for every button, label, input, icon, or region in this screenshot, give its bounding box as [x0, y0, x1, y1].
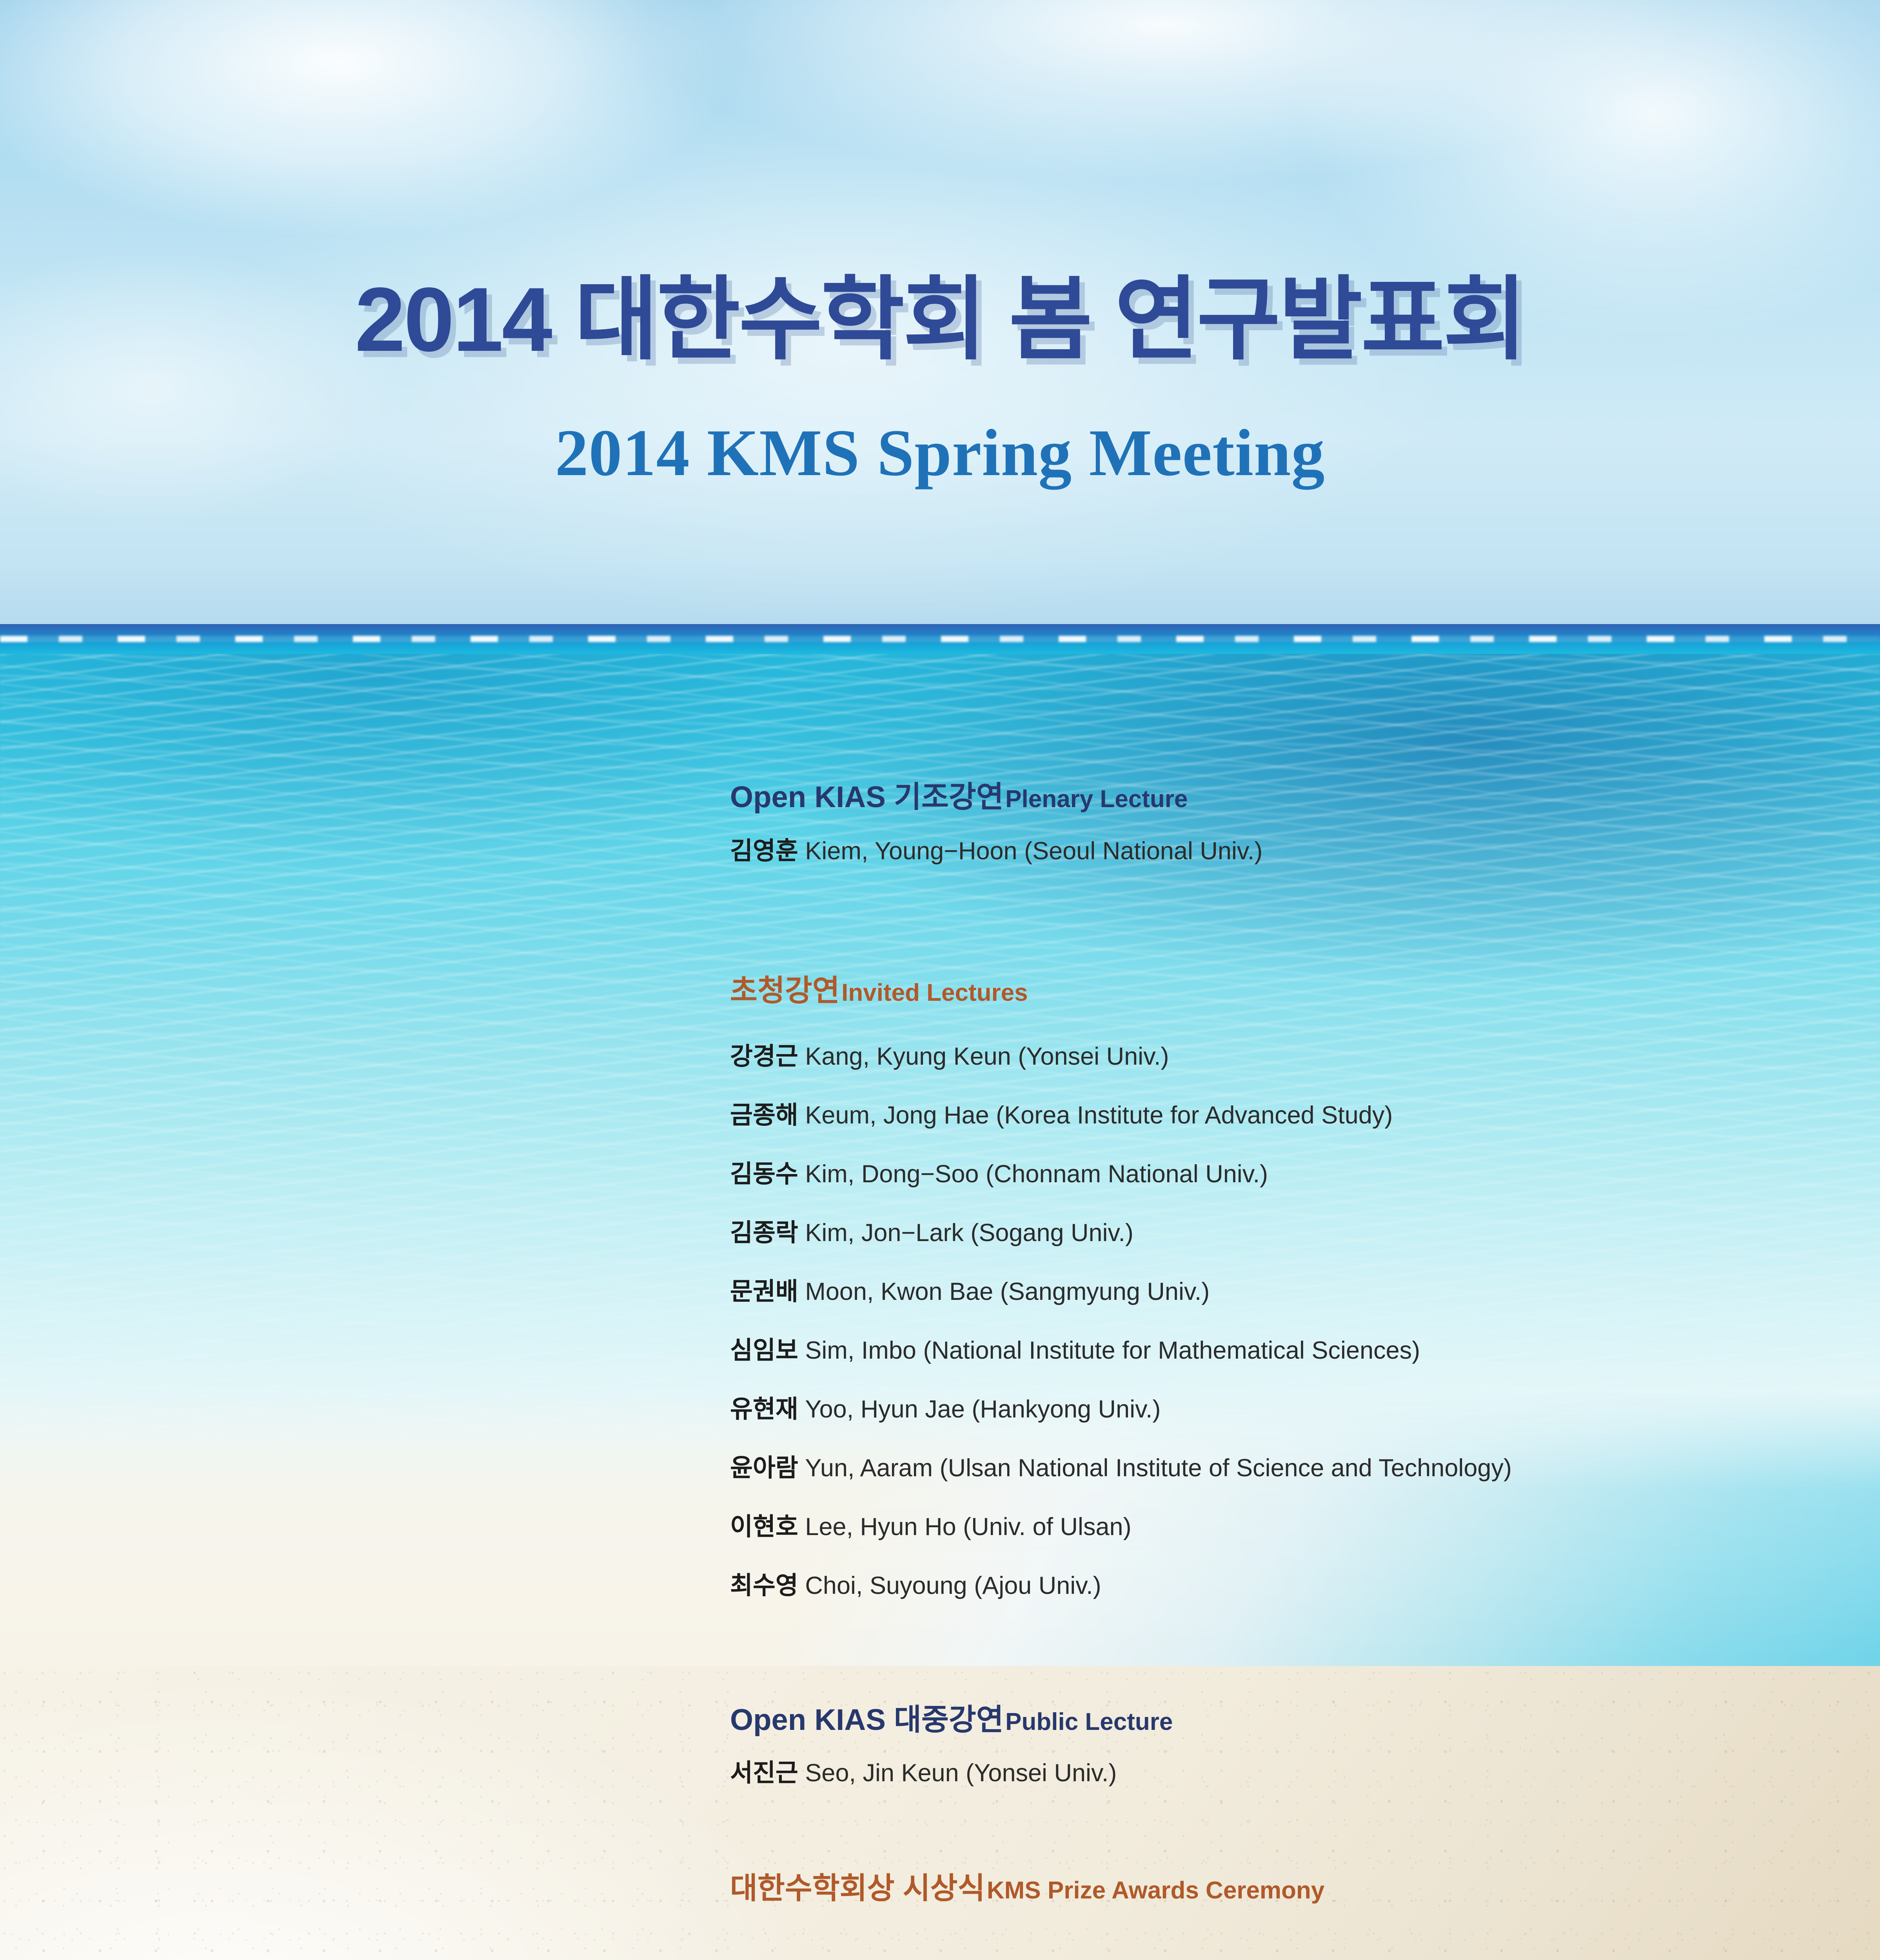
speaker-name-korean: 김종락	[730, 1219, 798, 1247]
speaker-name-korean: 윤아람	[730, 1454, 798, 1482]
speaker-name-english: Kang, Kyung Keun (Yonsei Univ.)	[805, 1043, 1169, 1070]
prize-heading-english: KMS Prize Awards Ceremony	[987, 1877, 1324, 1904]
speaker-name-korean: 심임보	[730, 1337, 798, 1364]
page-title-english: 2014 KMS Spring Meeting	[0, 419, 1880, 486]
speaker-invited-6: 심임보 Sim, Imbo (National Institute for Ma…	[730, 1338, 1420, 1363]
speaker-name-english: Yun, Aaram (Ulsan National Institute of …	[805, 1454, 1511, 1482]
section-heading-prize: 대한수학회상 시상식 KMS Prize Awards Ceremony	[730, 1874, 1324, 1904]
plenary-heading-english: Plenary Lecture	[1005, 786, 1188, 813]
speaker-name-english: Moon, Kwon Bae (Sangmyung Univ.)	[805, 1278, 1210, 1305]
speaker-invited-4: 김종락 Kim, Jon−Lark (Sogang Univ.)	[730, 1221, 1133, 1245]
section-heading-invited: 초청강연 Invited Lectures	[730, 976, 1028, 1006]
poster-content: 2014 대한수학회 봄 연구발표회 2014 KMS Spring Meeti…	[0, 0, 1880, 1960]
speaker-invited-8: 윤아람 Yun, Aaram (Ulsan National Institute…	[730, 1456, 1512, 1481]
speaker-name-english: Kim, Jon−Lark (Sogang Univ.)	[805, 1219, 1133, 1247]
speaker-invited-1: 강경근 Kang, Kyung Keun (Yonsei Univ.)	[730, 1044, 1169, 1069]
speaker-name-korean: 김동수	[730, 1160, 798, 1188]
speaker-invited-3: 김동수 Kim, Dong−Soo (Chonnam National Univ…	[730, 1162, 1268, 1187]
speaker-invited-5: 문권배 Moon, Kwon Bae (Sangmyung Univ.)	[730, 1279, 1210, 1304]
prize-heading-korean: 대한수학회상 시상식	[730, 1872, 985, 1905]
invited-heading-korean: 초청강연	[730, 974, 840, 1007]
section-heading-public: Open KIAS 대중강연 Public Lecture	[730, 1705, 1173, 1735]
speaker-name-korean: 금종해	[730, 1102, 798, 1129]
speaker-name-english: Keum, Jong Hae (Korea Institute for Adva…	[805, 1102, 1393, 1129]
plenary-heading-korean: Open KIAS 기조강연	[730, 780, 1004, 814]
speaker-name-korean: 김영훈	[730, 837, 798, 865]
speaker-invited-9: 이현호 Lee, Hyun Ho (Univ. of Ulsan)	[730, 1515, 1132, 1539]
speaker-name-english: Kiem, Young−Hoon (Seoul National Univ.)	[805, 837, 1262, 865]
public-heading-korean: Open KIAS 대중강연	[730, 1703, 1004, 1737]
speaker-invited-7: 유현재 Yoo, Hyun Jae (Hankyong Univ.)	[730, 1397, 1161, 1422]
speaker-name-english: Choi, Suyoung (Ajou Univ.)	[805, 1572, 1101, 1599]
speaker-name-korean: 유현재	[730, 1396, 798, 1423]
public-heading-english: Public Lecture	[1005, 1708, 1173, 1735]
page-title-korean: 2014 대한수학회 봄 연구발표회	[0, 274, 1880, 365]
speaker-invited-2: 금종해 Keum, Jong Hae (Korea Institute for …	[730, 1103, 1393, 1128]
speaker-name-korean: 이현호	[730, 1513, 798, 1541]
speaker-invited-10: 최수영 Choi, Suyoung (Ajou Univ.)	[730, 1573, 1101, 1598]
speaker-name-english: Yoo, Hyun Jae (Hankyong Univ.)	[805, 1396, 1161, 1423]
speaker-name-english: Seo, Jin Keun (Yonsei Univ.)	[805, 1759, 1117, 1787]
speaker-name-korean: 최수영	[730, 1572, 798, 1599]
speaker-name-korean: 강경근	[730, 1043, 798, 1070]
speaker-name-korean: 문권배	[730, 1278, 798, 1305]
speaker-plenary-1: 김영훈 Kiem, Young−Hoon (Seoul National Uni…	[730, 839, 1262, 864]
speaker-name-english: Sim, Imbo (National Institute for Mathem…	[805, 1337, 1420, 1364]
speaker-public-1: 서진근 Seo, Jin Keun (Yonsei Univ.)	[730, 1761, 1117, 1786]
speaker-name-korean: 서진근	[730, 1759, 798, 1787]
section-heading-plenary: Open KIAS 기조강연 Plenary Lecture	[730, 782, 1188, 812]
poster-canvas: 2014 대한수학회 봄 연구발표회 2014 KMS Spring Meeti…	[0, 0, 1880, 1960]
speaker-name-english: Lee, Hyun Ho (Univ. of Ulsan)	[805, 1513, 1131, 1541]
invited-heading-english: Invited Lectures	[841, 979, 1028, 1006]
speaker-name-english: Kim, Dong−Soo (Chonnam National Univ.)	[805, 1160, 1268, 1188]
